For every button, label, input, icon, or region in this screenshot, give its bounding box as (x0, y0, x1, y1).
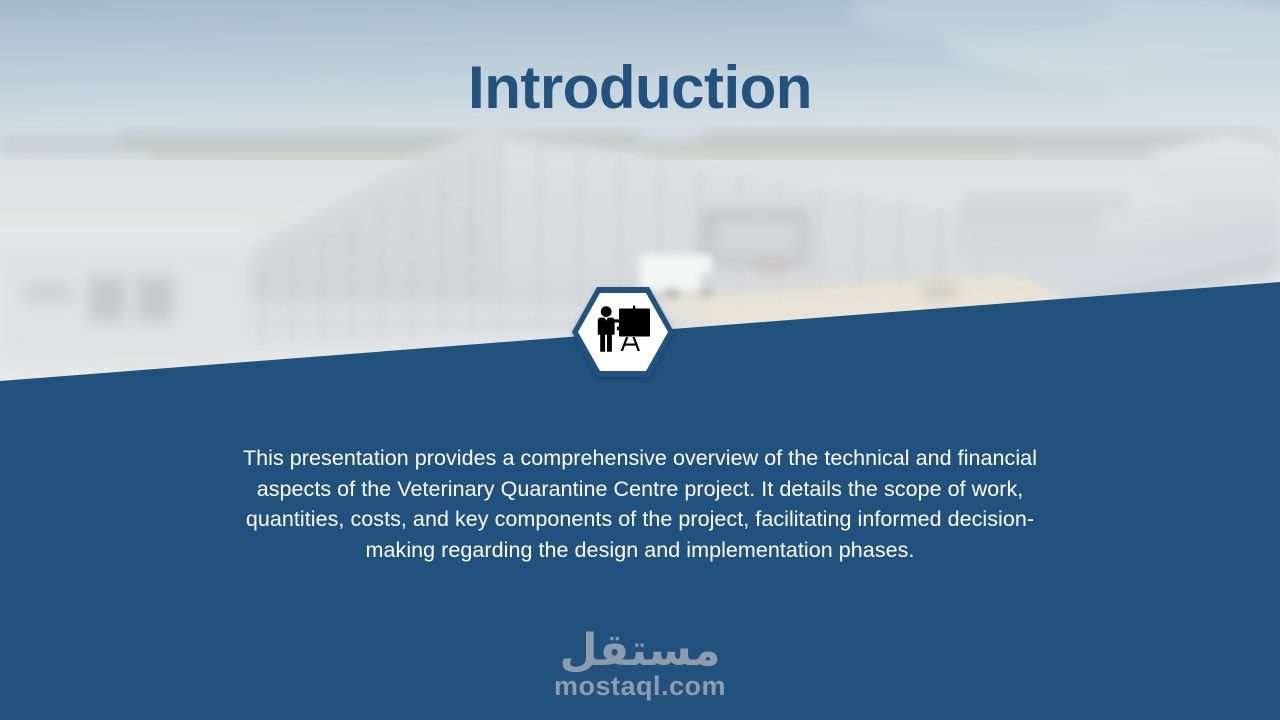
page-title: Introduction (0, 58, 1280, 118)
presentation-slide: Introduction (0, 0, 1280, 720)
hexagon-badge (571, 286, 675, 378)
body-paragraph: This presentation provides a comprehensi… (238, 443, 1042, 565)
